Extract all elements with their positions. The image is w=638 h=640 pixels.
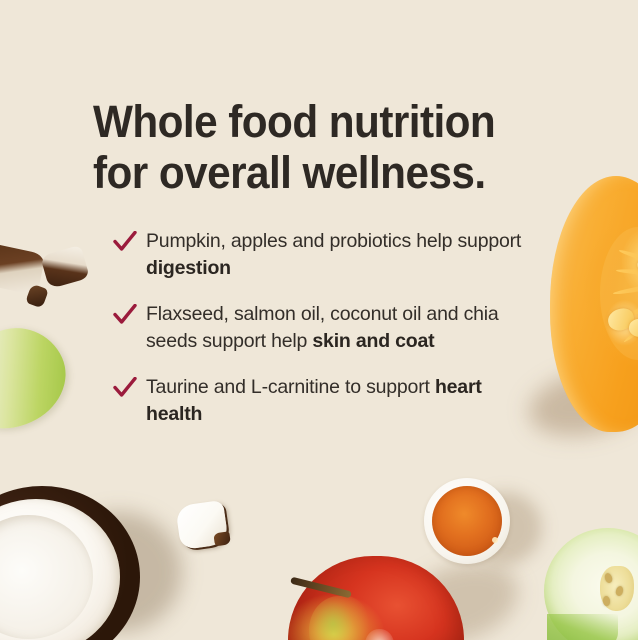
- list-item: Flaxseed, salmon oil, coconut oil and ch…: [113, 301, 533, 354]
- oil-dish-image: [424, 478, 510, 564]
- oil-highlight: [492, 537, 498, 543]
- pumpkin-half-image: [550, 176, 638, 432]
- oil-surface: [432, 486, 503, 557]
- green-apple-half-image: [544, 528, 638, 640]
- apple-peel: [547, 614, 619, 640]
- benefit-emphasis: digestion: [146, 257, 231, 279]
- list-item: Taurine and L-carnitine to support heart…: [113, 374, 533, 427]
- benefit-emphasis: skin and coat: [312, 330, 434, 352]
- list-item: Pumpkin, apples and probiotics help supp…: [113, 228, 533, 281]
- green-apple-slice-image: [0, 312, 81, 444]
- check-icon: [113, 377, 137, 399]
- check-icon: [113, 231, 137, 253]
- apple-stem: [290, 577, 352, 599]
- promo-poster: Whole food nutrition for overall wellnes…: [0, 0, 638, 640]
- page-title: Whole food nutrition for overall wellnes…: [93, 96, 544, 198]
- benefit-text: Taurine and L-carnitine to support: [146, 376, 435, 398]
- check-icon: [113, 304, 137, 326]
- apple-shoulder: [309, 596, 369, 640]
- coconut-half-image: [0, 486, 140, 640]
- coconut-chunk-image: [175, 500, 229, 550]
- benefit-text: Pumpkin, apples and probiotics help supp…: [146, 230, 521, 252]
- apple-highlight: [365, 629, 393, 640]
- coconut-shard-image: [40, 245, 90, 289]
- benefits-list: Pumpkin, apples and probiotics help supp…: [113, 228, 533, 427]
- apple-seed: [602, 596, 610, 607]
- red-apple-image: [288, 556, 464, 640]
